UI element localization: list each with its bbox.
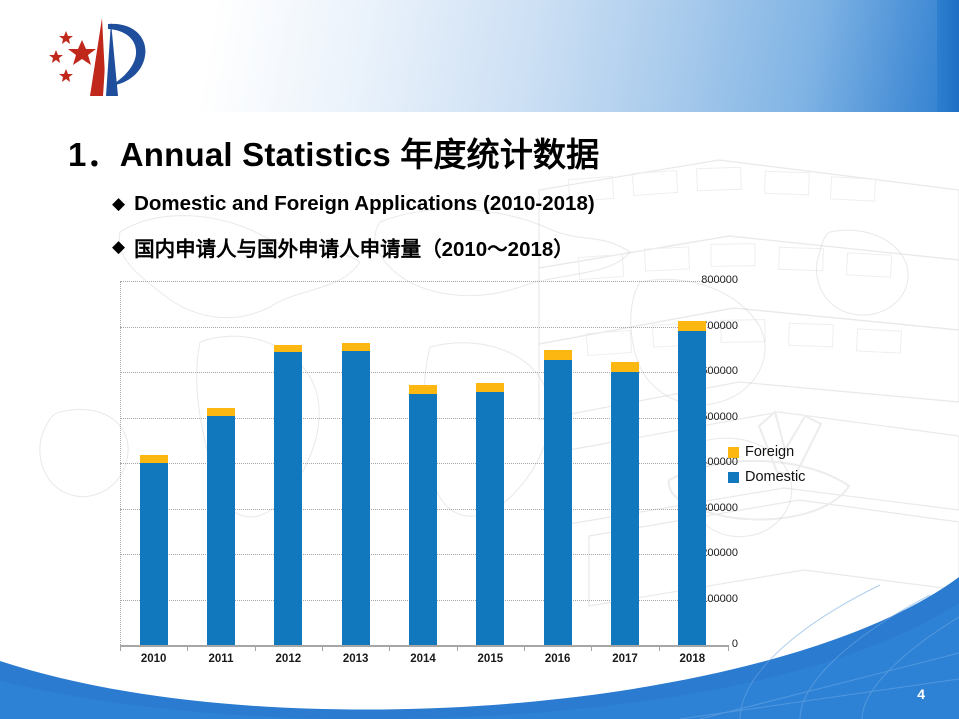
x-axis-tick-label: 2014 (391, 653, 455, 665)
x-axis-tick (389, 645, 390, 651)
chart-bar[interactable] (342, 281, 370, 645)
x-axis-tick-label: 2015 (458, 653, 522, 665)
chart-bar[interactable] (678, 281, 706, 645)
chart-bar[interactable] (409, 281, 437, 645)
legend-item[interactable]: Domestic (728, 469, 805, 485)
bar-segment-domestic[interactable] (544, 360, 572, 645)
chart-bar[interactable] (544, 281, 572, 645)
bar-segment-foreign[interactable] (342, 343, 370, 351)
bar-segment-domestic[interactable] (140, 463, 168, 645)
bar-segment-foreign[interactable] (274, 345, 302, 352)
x-axis-tick-label: 2011 (189, 653, 253, 665)
x-axis-tick-label: 2013 (324, 653, 388, 665)
x-axis-tick-label: 2018 (660, 653, 724, 665)
bar-segment-domestic[interactable] (274, 352, 302, 645)
x-axis-tick (524, 645, 525, 651)
bar-segment-foreign[interactable] (544, 350, 572, 360)
bullet-item-chinese: ◆ 国内申请人与国外申请人申请量（2010～2018） (112, 232, 574, 262)
cnipa-logo (36, 12, 154, 100)
x-axis-tick-label: 2010 (122, 653, 186, 665)
bar-segment-domestic[interactable] (611, 372, 639, 645)
bar-segment-foreign[interactable] (207, 408, 235, 416)
bar-segment-domestic[interactable] (342, 351, 370, 645)
bar-segment-foreign[interactable] (409, 385, 437, 394)
legend-item[interactable]: Foreign (728, 444, 805, 460)
chart-legend: ForeignDomestic (728, 444, 805, 494)
chart-bar[interactable] (140, 281, 168, 645)
diamond-bullet-icon: ◆ (112, 238, 125, 255)
chart-bar[interactable] (207, 281, 235, 645)
chart-bar[interactable] (611, 281, 639, 645)
bullet-text-english: Domestic and Foreign Applications (2010-… (134, 192, 595, 216)
page-title: 1．Annual Statistics 年度统计数据 (68, 128, 599, 176)
chart-bar[interactable] (274, 281, 302, 645)
bar-segment-domestic[interactable] (409, 394, 437, 645)
chart-gridline (120, 645, 726, 646)
x-axis-tick (322, 645, 323, 651)
x-axis-tick (591, 645, 592, 651)
bar-segment-foreign[interactable] (476, 383, 504, 392)
x-axis-tick (457, 645, 458, 651)
diamond-bullet-icon: ◆ (112, 195, 125, 212)
bar-segment-domestic[interactable] (678, 331, 706, 645)
x-axis-tick-label: 2012 (256, 653, 320, 665)
chart-plot-area: 8000007000006000005000004000003000002000… (48, 272, 738, 667)
legend-label: Domestic (745, 469, 805, 485)
slide-canvas: 1．Annual Statistics 年度统计数据 ◆ Domestic an… (0, 0, 959, 719)
x-axis-tick (120, 645, 121, 651)
x-axis-tick-label: 2017 (593, 653, 657, 665)
x-axis-tick (728, 645, 729, 651)
x-axis-tick (659, 645, 660, 651)
x-axis-tick-label: 2016 (526, 653, 590, 665)
x-axis-tick (187, 645, 188, 651)
legend-label: Foreign (745, 444, 794, 460)
bar-segment-domestic[interactable] (476, 392, 504, 645)
bar-segment-domestic[interactable] (207, 416, 235, 645)
bullet-item-english: ◆ Domestic and Foreign Applications (201… (112, 192, 595, 216)
page-number: 4 (917, 686, 925, 702)
bar-segment-foreign[interactable] (678, 321, 706, 331)
bullet-text-chinese: 国内申请人与国外申请人申请量（2010～2018） (134, 232, 574, 262)
legend-swatch-icon (728, 447, 739, 458)
bar-segment-foreign[interactable] (611, 362, 639, 372)
x-axis-tick (255, 645, 256, 651)
header-banner-edge (937, 0, 959, 112)
chart-bar[interactable] (476, 281, 504, 645)
legend-swatch-icon (728, 472, 739, 483)
bar-segment-foreign[interactable] (140, 455, 168, 463)
applications-stacked-bar-chart: 8000007000006000005000004000003000002000… (48, 272, 738, 667)
